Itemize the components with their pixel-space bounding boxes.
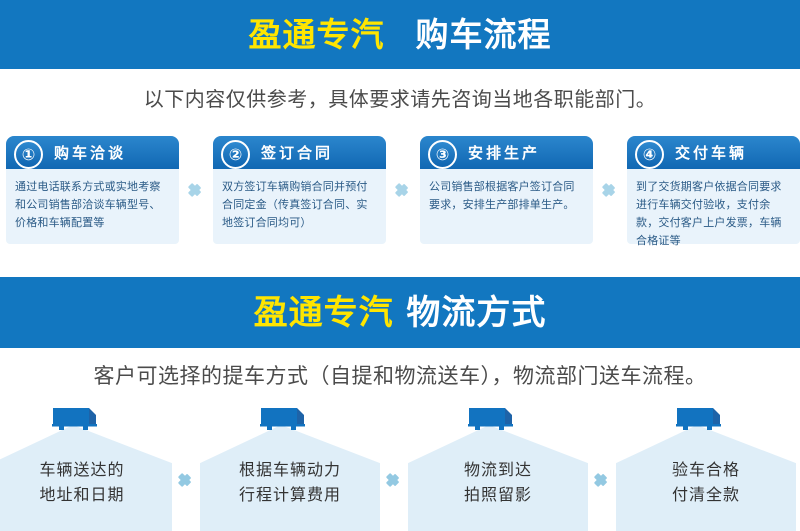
logistics-label-2-line1: 根据车辆动力 <box>239 460 341 479</box>
page-root: 盈通专汽 购车流程 以下内容仅供参考，具体要求请先咨询当地各职能部门。 ① 购车… <box>0 0 800 531</box>
logistics-label-1: 车辆送达的 地址和日期 <box>0 458 172 508</box>
step-title-2: 签订合同 <box>261 142 333 163</box>
logistics-label-2-line2: 行程计算费用 <box>200 483 380 508</box>
truck-icon <box>466 406 518 434</box>
step-header-3: ③ 安排生产 <box>420 136 593 169</box>
step-body-3: 公司销售部根据客户签订合同要求，安排生产部排单生产。 <box>420 169 593 214</box>
step-number-badge-3: ③ <box>428 140 457 169</box>
purchase-subtitle: 以下内容仅供参考，具体要求请先咨询当地各职能部门。 <box>0 83 800 112</box>
chevron-right-icon <box>596 469 609 491</box>
chevron-right-icon <box>397 179 410 201</box>
step-body-2: 双方签订车辆购销合同并预付合同定金（传真签订合同、实地签订合同均可） <box>213 169 386 232</box>
logistics-subtitle: 客户可选择的提车方式（自提和物流送车），物流部门送车流程。 <box>0 360 800 390</box>
truck-icon <box>674 406 726 434</box>
logistics-arrow-2 <box>380 400 408 531</box>
logistics-label-3-line1: 物流到达 <box>464 460 532 479</box>
step-arrow-1 <box>179 136 213 244</box>
logistics-label-3-line2: 拍照留影 <box>408 483 588 508</box>
logistics-items-row: 车辆送达的 地址和日期 根据车辆动力 行程计算费用 <box>0 400 800 531</box>
truck-icon <box>50 406 102 434</box>
step-title-1: 购车洽谈 <box>54 142 126 163</box>
step-header-2: ② 签订合同 <box>213 136 386 169</box>
logistics-label-1-line2: 地址和日期 <box>0 483 172 508</box>
step-number-badge-2: ② <box>221 140 250 169</box>
purchase-banner-brand: 盈通专汽 <box>249 15 385 54</box>
logistics-item-2[interactable]: 根据车辆动力 行程计算费用 <box>200 400 380 531</box>
purchase-banner-heading: 购车流程 <box>416 15 552 54</box>
truck-icon <box>258 406 310 434</box>
logistics-label-1-line1: 车辆送达的 <box>39 460 124 479</box>
step-header-4: ④ 交付车辆 <box>627 136 800 169</box>
logistics-label-4-line2: 付清全款 <box>616 483 796 508</box>
step-header-1: ① 购车洽谈 <box>6 136 179 169</box>
step-body-4: 到了交货期客户依据合同要求进行车辆交付验收，支付余款，交付客户上户发票，车辆合格… <box>627 169 800 251</box>
logistics-label-4: 验车合格 付清全款 <box>616 458 796 508</box>
step-card-4[interactable]: ④ 交付车辆 到了交货期客户依据合同要求进行车辆交付验收，支付余款，交付客户上户… <box>627 136 800 244</box>
chevron-right-icon <box>190 179 203 201</box>
logistics-item-3[interactable]: 物流到达 拍照留影 <box>408 400 588 531</box>
chevron-right-icon <box>388 469 401 491</box>
logistics-banner: 盈通专汽 物流方式 <box>0 277 800 348</box>
logistics-item-4[interactable]: 验车合格 付清全款 <box>616 400 796 531</box>
purchase-banner-title: 盈通专汽 购车流程 <box>249 18 552 51</box>
chevron-right-icon <box>604 179 617 201</box>
step-card-1[interactable]: ① 购车洽谈 通过电话联系方式或实地考察和公司销售部洽谈车辆型号、价格和车辆配置… <box>6 136 179 244</box>
step-arrow-2 <box>386 136 420 244</box>
step-card-3[interactable]: ③ 安排生产 公司销售部根据客户签订合同要求，安排生产部排单生产。 <box>420 136 593 244</box>
step-number-badge-4: ④ <box>635 140 664 169</box>
logistics-label-3: 物流到达 拍照留影 <box>408 458 588 508</box>
logistics-banner-title: 盈通专汽 物流方式 <box>254 296 547 330</box>
logistics-label-2: 根据车辆动力 行程计算费用 <box>200 458 380 508</box>
logistics-arrow-3 <box>588 400 616 531</box>
purchase-banner: 盈通专汽 购车流程 <box>0 0 800 69</box>
purchase-steps-row: ① 购车洽谈 通过电话联系方式或实地考察和公司销售部洽谈车辆型号、价格和车辆配置… <box>0 136 800 256</box>
step-title-4: 交付车辆 <box>675 142 747 163</box>
logistics-item-1[interactable]: 车辆送达的 地址和日期 <box>0 400 172 531</box>
logistics-label-4-line1: 验车合格 <box>672 460 740 479</box>
logistics-banner-heading: 物流方式 <box>406 293 546 333</box>
step-title-3: 安排生产 <box>468 142 540 163</box>
step-body-1: 通过电话联系方式或实地考察和公司销售部洽谈车辆型号、价格和车辆配置等 <box>6 169 179 232</box>
logistics-arrow-1 <box>172 400 200 531</box>
chevron-right-icon <box>180 469 193 491</box>
logistics-banner-brand: 盈通专汽 <box>254 293 394 333</box>
step-number-badge-1: ① <box>14 140 43 169</box>
step-arrow-3 <box>593 136 627 244</box>
step-card-2[interactable]: ② 签订合同 双方签订车辆购销合同并预付合同定金（传真签订合同、实地签订合同均可… <box>213 136 386 244</box>
